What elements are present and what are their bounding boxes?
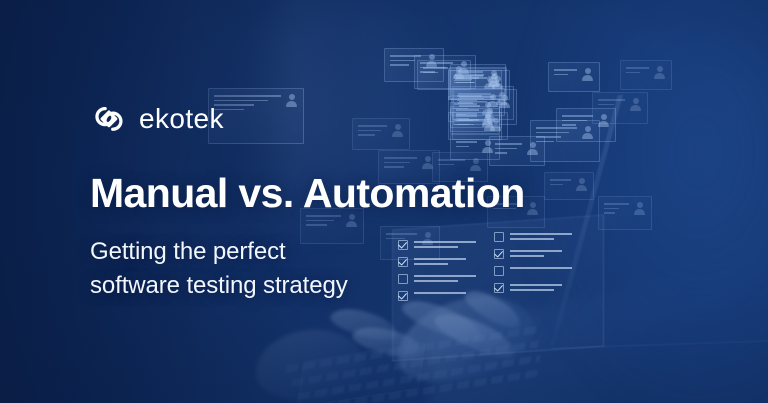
subtitle-line-1: Getting the perfect: [90, 238, 286, 265]
ekotek-infinity-diamond-logo-icon: [90, 100, 128, 138]
page-subtitle: Getting the perfect software testing str…: [90, 235, 525, 303]
banner-content: ekotek Manual vs. Automation Getting the…: [90, 0, 525, 403]
brand-name: ekotek: [139, 105, 224, 133]
brand-logo[interactable]: ekotek: [90, 100, 525, 138]
promo-banner: ekotek Manual vs. Automation Getting the…: [0, 0, 768, 403]
page-title: Manual vs. Automation: [90, 172, 525, 215]
subtitle-line-2: software testing strategy: [90, 269, 525, 303]
